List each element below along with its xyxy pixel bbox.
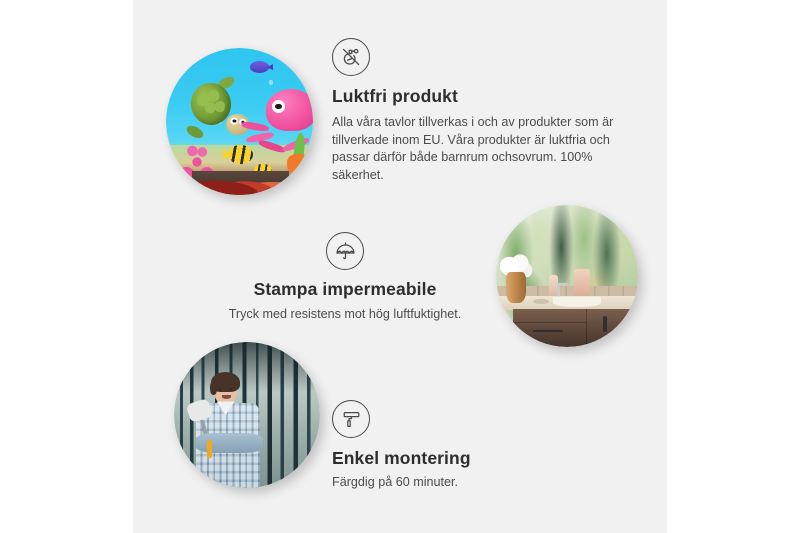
- painter-hair: [211, 372, 240, 392]
- bubble-icon: [269, 80, 273, 84]
- feature-title: Stampa impermeabile: [214, 279, 476, 300]
- cabinet-seam: [586, 309, 588, 347]
- sink-basin: [553, 297, 601, 307]
- sea-turtle: [184, 80, 249, 139]
- pink-octopus: [257, 89, 313, 157]
- paint-roller-icon: [332, 400, 370, 438]
- wood-vanity-cabinet: [513, 309, 638, 347]
- feature-odourless: Luktfri produkt Alla våra tavlor tillver…: [332, 38, 632, 184]
- blue-fish: [250, 61, 269, 73]
- amber-vase: [506, 272, 526, 303]
- door-handle: [603, 316, 607, 332]
- paint-brush: [207, 440, 212, 458]
- feature-waterproof: Stampa impermeabile Tryck med resistens …: [214, 232, 476, 324]
- feature-description: Färgdig på 60 minuter.: [332, 474, 612, 492]
- painter-woman: [192, 374, 268, 488]
- drawer-handle: [533, 330, 563, 332]
- turtle-eye: [230, 117, 238, 125]
- feature-title: Luktfri produkt: [332, 86, 632, 107]
- umbrella-icon: [326, 232, 364, 270]
- infographic-canvas: Luktfri produkt Alla våra tavlor tillver…: [0, 0, 800, 533]
- octopus-head: [266, 89, 313, 131]
- octopus-eye: [272, 100, 285, 113]
- yellow-fish: [228, 145, 253, 164]
- painter-smile: [222, 395, 231, 399]
- sea-rocks: [192, 171, 289, 195]
- feature-description: Tryck med resistens mot hög luftfuktighe…: [214, 306, 476, 324]
- feature-description: Alla våra tavlor tillverkas i och av pro…: [332, 114, 632, 184]
- photo-bathroom-scene: [496, 205, 638, 347]
- photo-painter-scene: [174, 342, 320, 488]
- feature-title: Enkel montering: [332, 448, 612, 469]
- photo-underwater-scene: [166, 48, 313, 195]
- cabinet-seam: [513, 322, 585, 323]
- starfish: [287, 154, 311, 175]
- feature-easy-install: Enkel montering Färgdig på 60 minuter.: [332, 400, 612, 492]
- no-odour-icon: [332, 38, 370, 76]
